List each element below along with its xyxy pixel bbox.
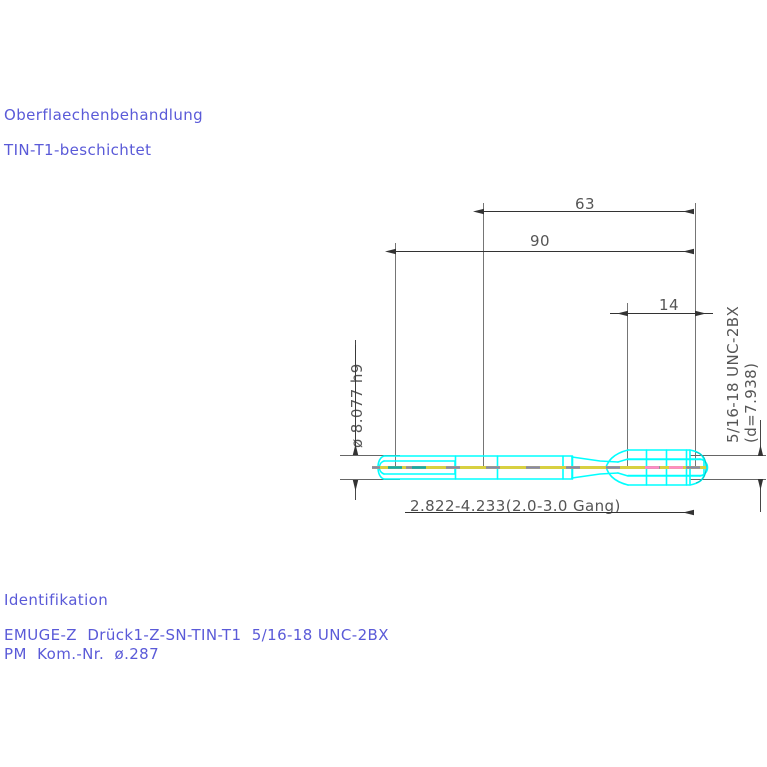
dimension-label-shank-diameter: ø 8.077 h9	[348, 363, 366, 448]
identification-heading: Identifikation	[4, 591, 108, 609]
dimension-label-thread-length: 63	[575, 195, 595, 213]
drawing-sheet: Oberflaechenbehandlung TIN-T1-beschichte…	[0, 0, 767, 767]
dimension-label-tip-length: 14	[659, 296, 679, 314]
dimension-label-overall-length: 90	[530, 232, 550, 250]
extension-stubs	[340, 456, 766, 480]
identification-line-1: EMUGE-Z Drück1-Z-SN-TIN-T1 5/16-18 UNC-2…	[4, 626, 389, 644]
dimension-label-thread-pitch-diameter: (d=7.938)	[742, 363, 760, 443]
extension-lines	[356, 203, 696, 466]
dimension-label-thread-engagement: 2.822-4.233(2.0-3.0 Gang)	[410, 497, 621, 515]
tool-geometry	[378, 450, 708, 485]
surface-treatment-value: TIN-T1-beschichtet	[4, 141, 151, 159]
identification-line-2: PM Kom.-Nr. ø.287	[4, 645, 159, 663]
dimension-label-thread-spec: 5/16-18 UNC-2BX	[724, 306, 742, 443]
tool-tip-accents	[696, 452, 706, 483]
surface-treatment-heading: Oberflaechenbehandlung	[4, 106, 203, 124]
